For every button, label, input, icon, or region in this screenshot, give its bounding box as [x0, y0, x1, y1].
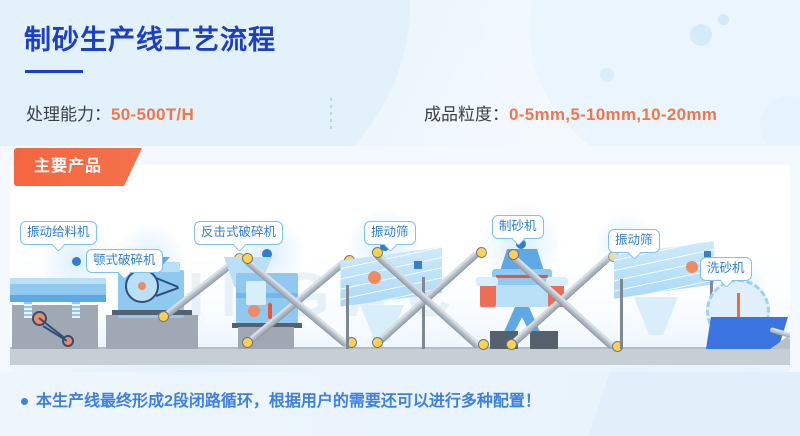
conveyor-pin [242, 253, 253, 264]
infographic-page: 制砂生产线工艺流程 处理能力：50-500T/H 成品粒度：0-5mm,5-10… [0, 0, 800, 436]
decorative-circle [690, 24, 712, 46]
feeder-deck-top [10, 278, 106, 284]
equipment-label-text: 振动筛 [371, 225, 409, 239]
decorative-circle [600, 68, 614, 82]
impact-rotor [248, 305, 260, 317]
equipment-label-text: 颚式破碎机 [93, 253, 156, 267]
feeder-deck-edge [10, 295, 106, 302]
decorative-circle [455, 18, 485, 48]
impact-rotor-window [246, 281, 266, 305]
feeder-spring-a [24, 302, 32, 318]
equipment-label-jaw-crusher: 颚式破碎机 [86, 249, 163, 273]
conveyor-pin [158, 311, 169, 322]
equipment-label-screen-2: 振动筛 [608, 229, 660, 253]
ground-strip [10, 349, 790, 365]
equipment-label-feeder: 振动给料机 [20, 221, 97, 245]
impact-accent-bar [268, 303, 272, 319]
footer-bullet-icon [21, 398, 28, 405]
equipment-label-screen-1: 振动筛 [364, 221, 416, 245]
decorative-circle [718, 14, 729, 25]
sandmaker-lower [496, 285, 548, 307]
main-products-ribbon-label: 主要产品 [34, 148, 102, 186]
spec-capacity-label: 处理能力： [26, 105, 111, 124]
equipment-label-text: 洗砂机 [707, 261, 745, 275]
screen2-post [620, 279, 623, 349]
feeder-spring-b [72, 302, 80, 318]
main-products-ribbon: 主要产品 [14, 148, 142, 186]
screen1-drive [368, 271, 381, 284]
conveyor-pin [372, 247, 383, 258]
screen1-post [346, 285, 349, 349]
conveyor-pin [372, 337, 383, 348]
equipment-label-sand-washer: 洗砂机 [700, 257, 752, 281]
spec-output-size: 成品粒度：0-5mm,5-10mm,10-20mm [424, 98, 717, 132]
screen1-block [414, 261, 422, 269]
sandmaker-motor-cap-left [476, 277, 498, 286]
washer-spoke [737, 293, 740, 319]
jaw-base-bar [112, 310, 192, 315]
feeder-pulley-small [62, 335, 74, 347]
equipment-label-impact-crusher: 反击式破碎机 [194, 221, 283, 245]
conveyor-pin [478, 339, 489, 350]
conveyor-pin [506, 339, 517, 350]
footer-note-text: 本生产线最终形成2段闭路循环，根据用户的需要还可以进行多种配置！ [36, 390, 541, 414]
title-underline [25, 70, 83, 73]
footer-decoration [579, 372, 800, 436]
equipment-label-sand-maker: 制砂机 [492, 215, 544, 239]
sandmaker-plinth-right [530, 331, 558, 349]
spec-capacity-value: 50-500T/H [111, 105, 194, 124]
conveyor-pin [242, 337, 253, 348]
conveyor-pin [508, 249, 519, 260]
spec-output-size-value: 0-5mm,5-10mm,10-20mm [509, 105, 717, 124]
equipment-label-text: 振动给料机 [27, 225, 90, 239]
screen1-post [422, 277, 425, 349]
equipment-label-text: 反击式破碎机 [201, 225, 276, 239]
equipment-label-text: 制砂机 [499, 219, 537, 233]
spec-capacity: 处理能力：50-500T/H [26, 98, 194, 132]
feeder-hub [72, 257, 81, 266]
equipment-label-text: 振动筛 [615, 233, 653, 247]
jaw-plinth [106, 315, 198, 349]
sandmaker-motor-left [480, 283, 496, 307]
process-diagram-panel: XINGAC [10, 165, 790, 372]
spec-row: 处理能力：50-500T/H 成品粒度：0-5mm,5-10mm,10-20mm [0, 98, 800, 132]
jaw-flywheel-hub [138, 282, 146, 290]
page-title: 制砂生产线工艺流程 [24, 27, 276, 54]
screen2-drive [686, 261, 698, 273]
spec-divider [330, 98, 332, 132]
spec-output-size-label: 成品粒度： [424, 105, 509, 124]
